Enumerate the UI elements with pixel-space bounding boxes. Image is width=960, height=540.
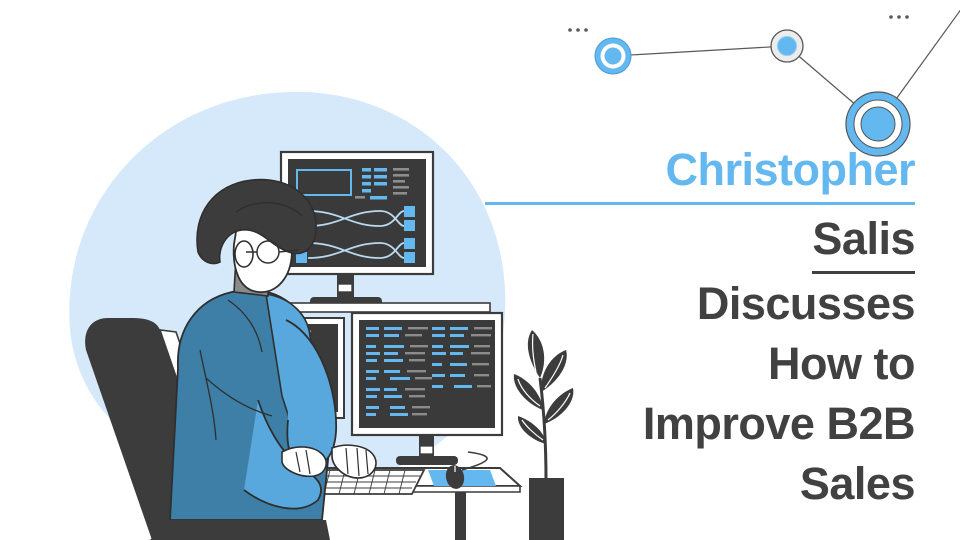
title-line-sales: Sales <box>485 454 915 514</box>
edge-left-mid <box>613 46 787 56</box>
title-line-discusses: Discusses <box>485 274 915 334</box>
edge-mid-large <box>787 46 878 124</box>
slide-canvas: Christopher Salis Discusses How to Impro… <box>0 0 960 540</box>
title-line-improve-b2b: Improve B2B <box>485 394 915 454</box>
title-line-how-to: How to <box>485 334 915 394</box>
title-last-name-text: Salis <box>812 209 915 274</box>
network-edges <box>613 0 960 124</box>
network-node-mid <box>771 30 803 62</box>
title-block: Christopher Salis Discusses How to Impro… <box>485 140 915 514</box>
title-line-last-name: Salis <box>485 209 915 274</box>
title-line-first-name: Christopher <box>485 140 915 205</box>
ellipsis-right-icon <box>889 15 909 19</box>
edge-large-offscreen <box>878 0 960 124</box>
